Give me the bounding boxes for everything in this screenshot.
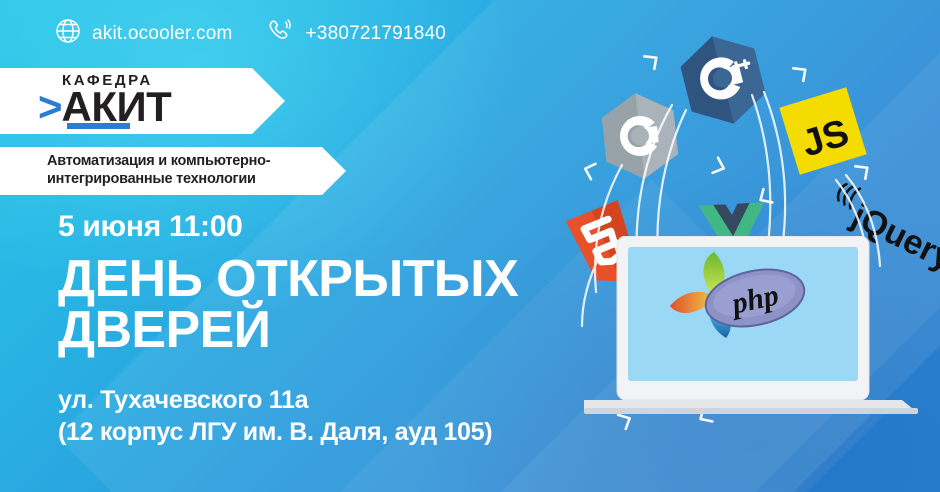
javascript-logo: JS [780,88,866,174]
website-contact[interactable]: akit.ocooler.com [55,18,233,49]
event-address-line1: ул. Тухачевского 11а [58,384,518,417]
event-title-line1: ДЕНЬ ОТКРЫТЫХ [58,254,518,305]
logo-underline [67,123,130,129]
event-address: ул. Тухачевского 11а (12 корпус ЛГУ им. … [58,384,518,449]
globe-icon [55,18,81,49]
laptop: php [570,236,925,441]
contact-strip: akit.ocooler.com +380721791840 [55,18,446,49]
logo-inner: КАФЕДРА > АКИТ [38,73,171,125]
event-address-line2: (12 корпус ЛГУ им. В. Даля, ауд 105) [58,416,518,449]
open-day-poster: akit.ocooler.com +380721791840 КАФЕДРА >… [0,0,940,492]
department-subtitle: Автоматизация и компьютерно- интегрирова… [47,153,317,188]
website-text: akit.ocooler.com [92,23,233,45]
event-title-line2: ДВЕРЕЙ [58,305,518,356]
event-title: ДЕНЬ ОТКРЫТЫХ ДВЕРЕЙ [58,254,518,356]
phone-text: +380721791840 [306,23,447,45]
c-lang-logo [597,90,683,182]
logo-name: АКИТ [62,89,172,125]
phone-ringing-icon [267,18,295,49]
phone-contact[interactable]: +380721791840 [267,18,447,49]
logo-row: > АКИТ [38,89,171,125]
event-copy: 5 июня 11:00 ДЕНЬ ОТКРЫТЫХ ДВЕРЕЙ ул. Ту… [58,212,518,449]
cpp-lang-logo [678,32,768,128]
department-subtitle-line2: интегрированные технологии [47,171,317,189]
department-subtitle-line1: Автоматизация и компьютерно- [47,153,317,171]
department-subtitle-plate: Автоматизация и компьютерно- интегрирова… [0,147,322,195]
department-logo-plate: КАФЕДРА > АКИТ [0,68,252,134]
chevron-right-icon: > [38,89,63,125]
event-datetime: 5 июня 11:00 [58,212,518,242]
